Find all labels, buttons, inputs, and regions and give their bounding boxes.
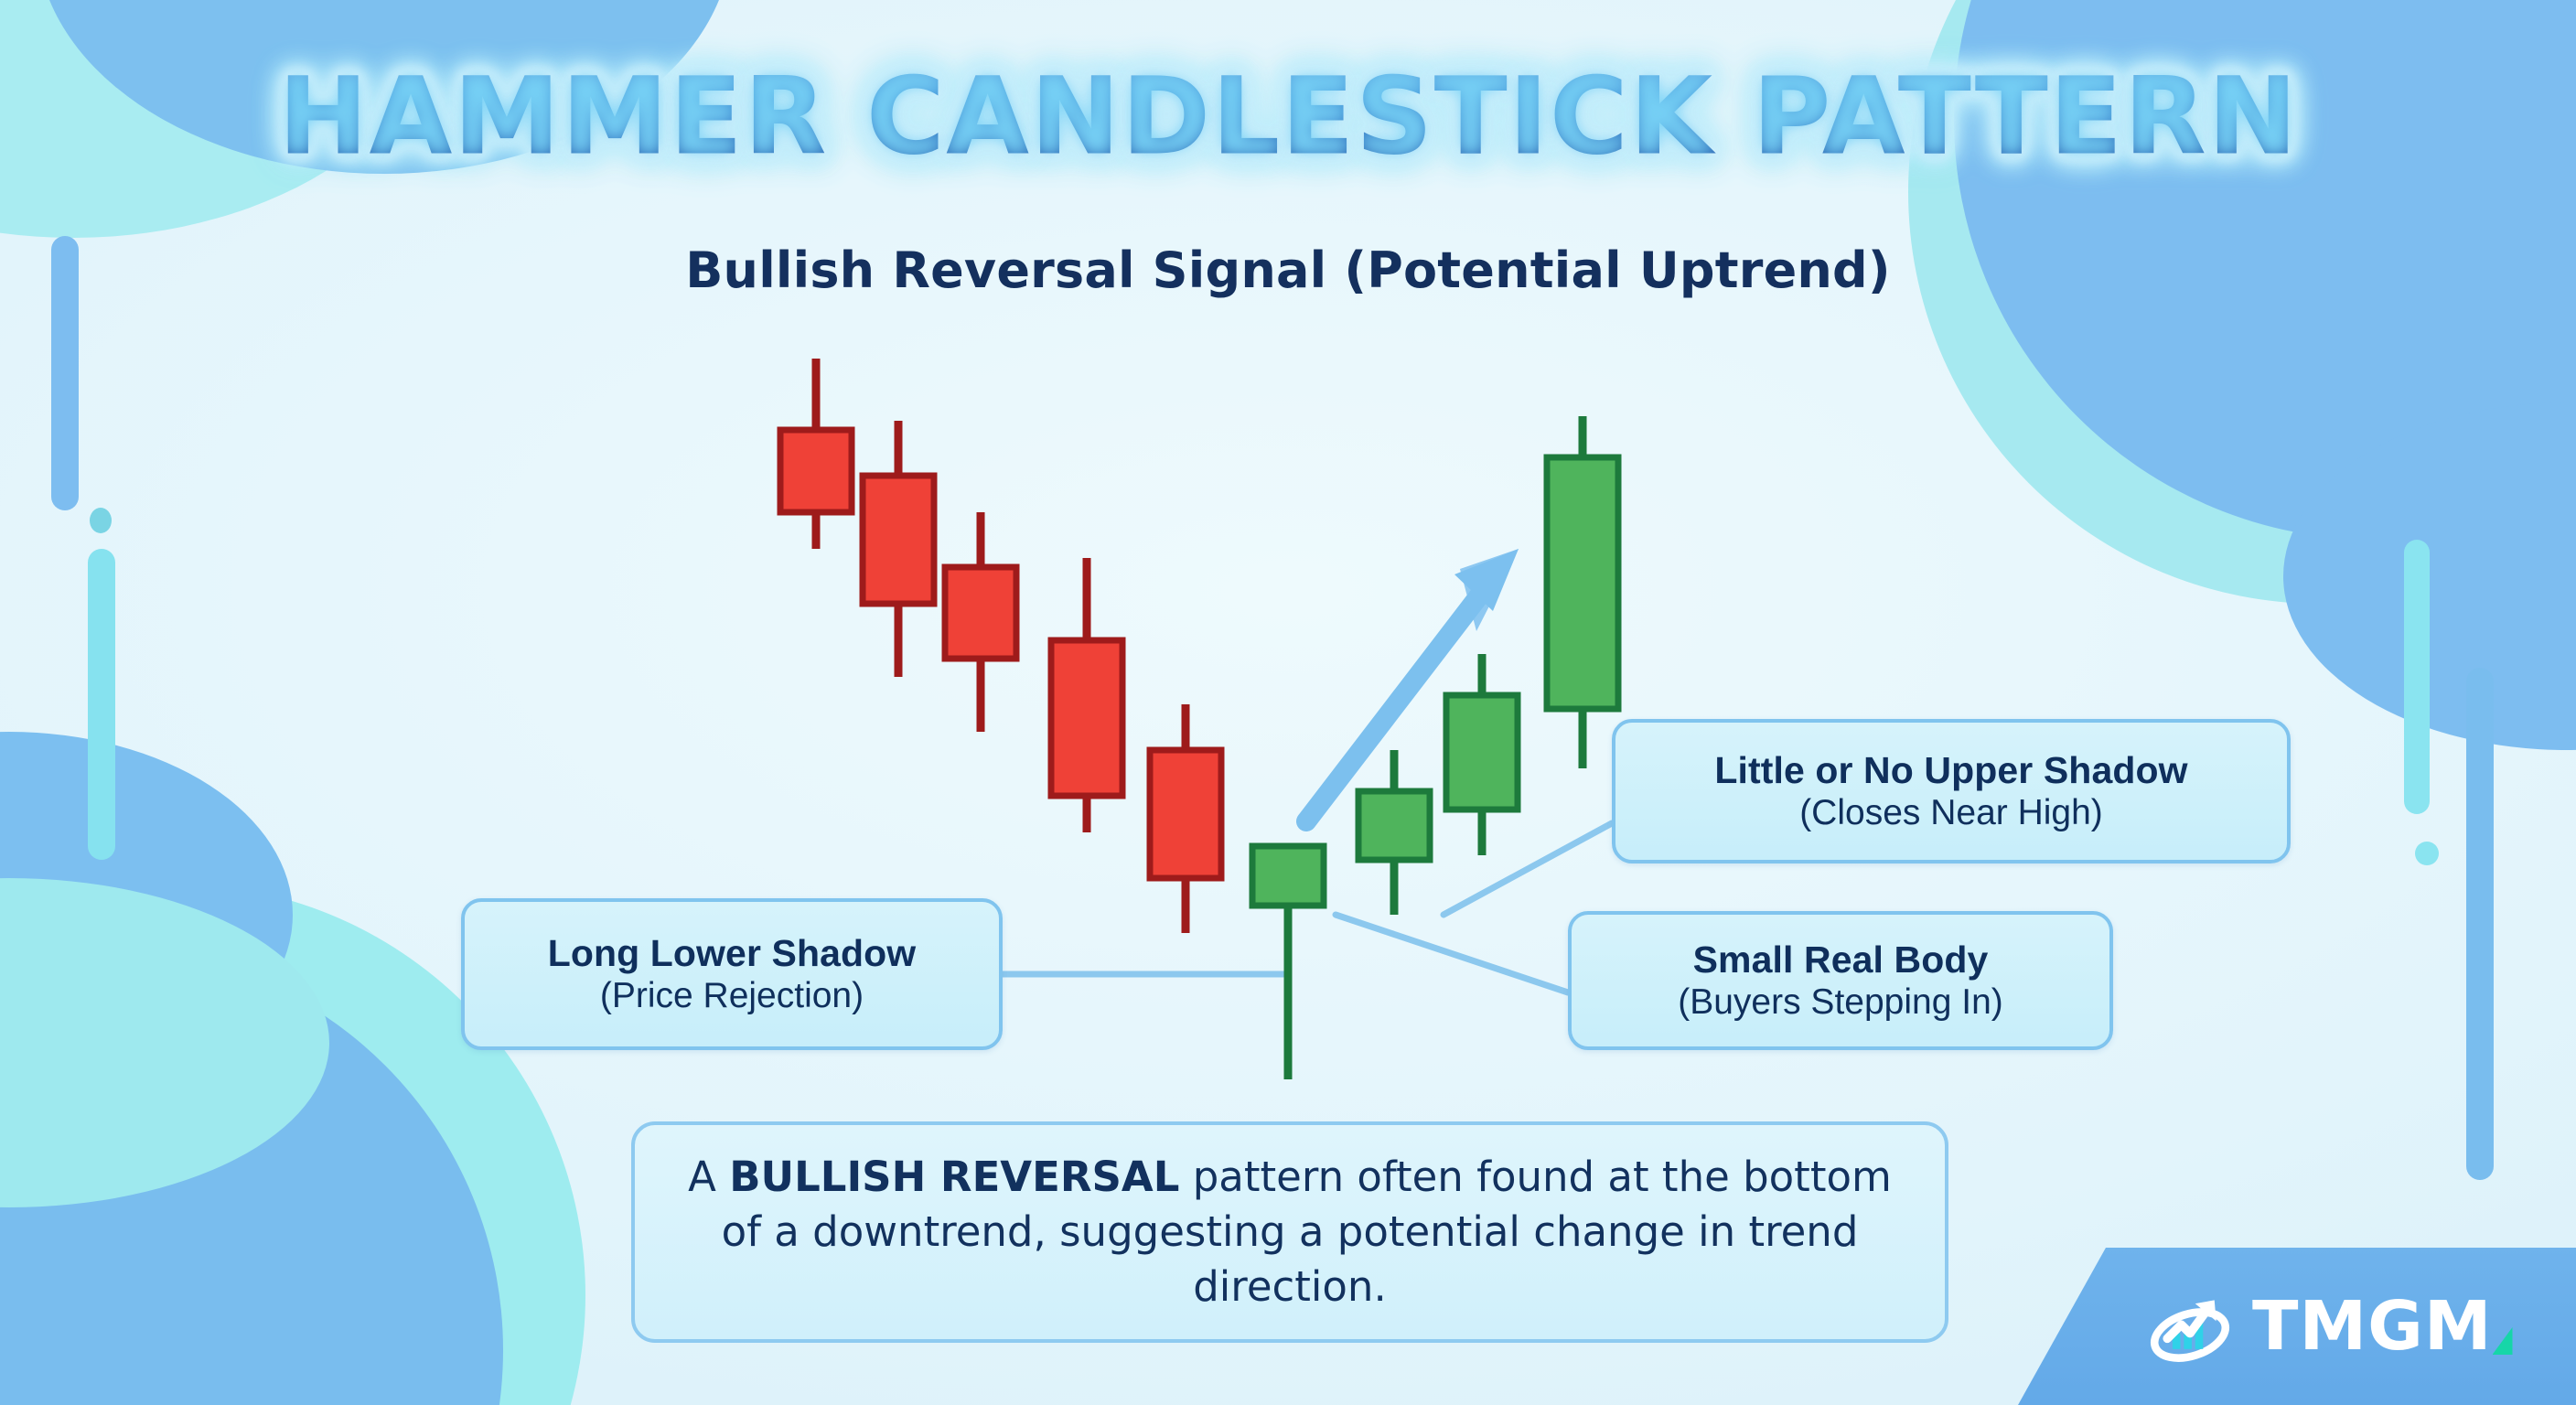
candle-body xyxy=(1051,640,1122,796)
recovery-candle-3 xyxy=(1547,416,1618,768)
logo-accent-dot xyxy=(2493,1327,2513,1355)
downtrend-candle-2 xyxy=(863,421,934,677)
downtrend-candle-3 xyxy=(945,512,1016,732)
recovery-candle-1 xyxy=(1358,750,1430,915)
hammer-candle xyxy=(1252,846,1324,1079)
infographic-poster: HAMMER CANDLESTICK PATTERN Bullish Rever… xyxy=(0,0,2576,1405)
candle-body xyxy=(1150,750,1221,878)
arrow-chart-swoosh-icon xyxy=(2146,1288,2234,1365)
leader-line-small-real-body xyxy=(1336,915,1568,992)
callout-subtitle: (Buyers Stepping In) xyxy=(1592,981,2089,1023)
candle-body xyxy=(1547,457,1618,709)
leader-line-upper-shadow xyxy=(1444,823,1612,915)
callout-title: Little or No Upper Shadow xyxy=(1636,749,2267,793)
callout-small-real-body[interactable]: Small Real Body (Buyers Stepping In) xyxy=(1568,911,2113,1050)
downtrend-candle-5 xyxy=(1150,704,1221,933)
recovery-candle-2 xyxy=(1446,654,1518,855)
logo-banner[interactable]: TMGM xyxy=(2018,1248,2576,1405)
candle-body xyxy=(1358,791,1430,860)
logo-wordmark-text: TMGM xyxy=(2252,1287,2493,1366)
candle-body xyxy=(780,430,852,512)
downtrend-candle-1 xyxy=(780,359,852,549)
candle-body xyxy=(1252,846,1324,906)
callout-title: Small Real Body xyxy=(1592,938,2089,982)
callout-subtitle: (Closes Near High) xyxy=(1636,792,2267,833)
description-emphasis: BULLISH REVERSAL xyxy=(729,1153,1179,1201)
downtrend-candle-4 xyxy=(1051,558,1122,832)
candle-body xyxy=(863,476,934,604)
callout-long-lower-shadow[interactable]: Long Lower Shadow (Price Rejection) xyxy=(461,898,1003,1050)
description-box: A BULLISH REVERSAL pattern often found a… xyxy=(631,1121,1948,1343)
candle-body xyxy=(1446,695,1518,810)
candle-body xyxy=(945,567,1016,659)
callout-little-or-no-upper-shadow[interactable]: Little or No Upper Shadow (Closes Near H… xyxy=(1612,719,2291,863)
description-lead: A xyxy=(688,1153,729,1201)
callout-subtitle: (Price Rejection) xyxy=(485,975,979,1016)
logo-wordmark: TMGM xyxy=(2252,1292,2493,1360)
description-text: A BULLISH REVERSAL pattern often found a… xyxy=(677,1150,1903,1315)
callout-title: Long Lower Shadow xyxy=(485,932,979,976)
